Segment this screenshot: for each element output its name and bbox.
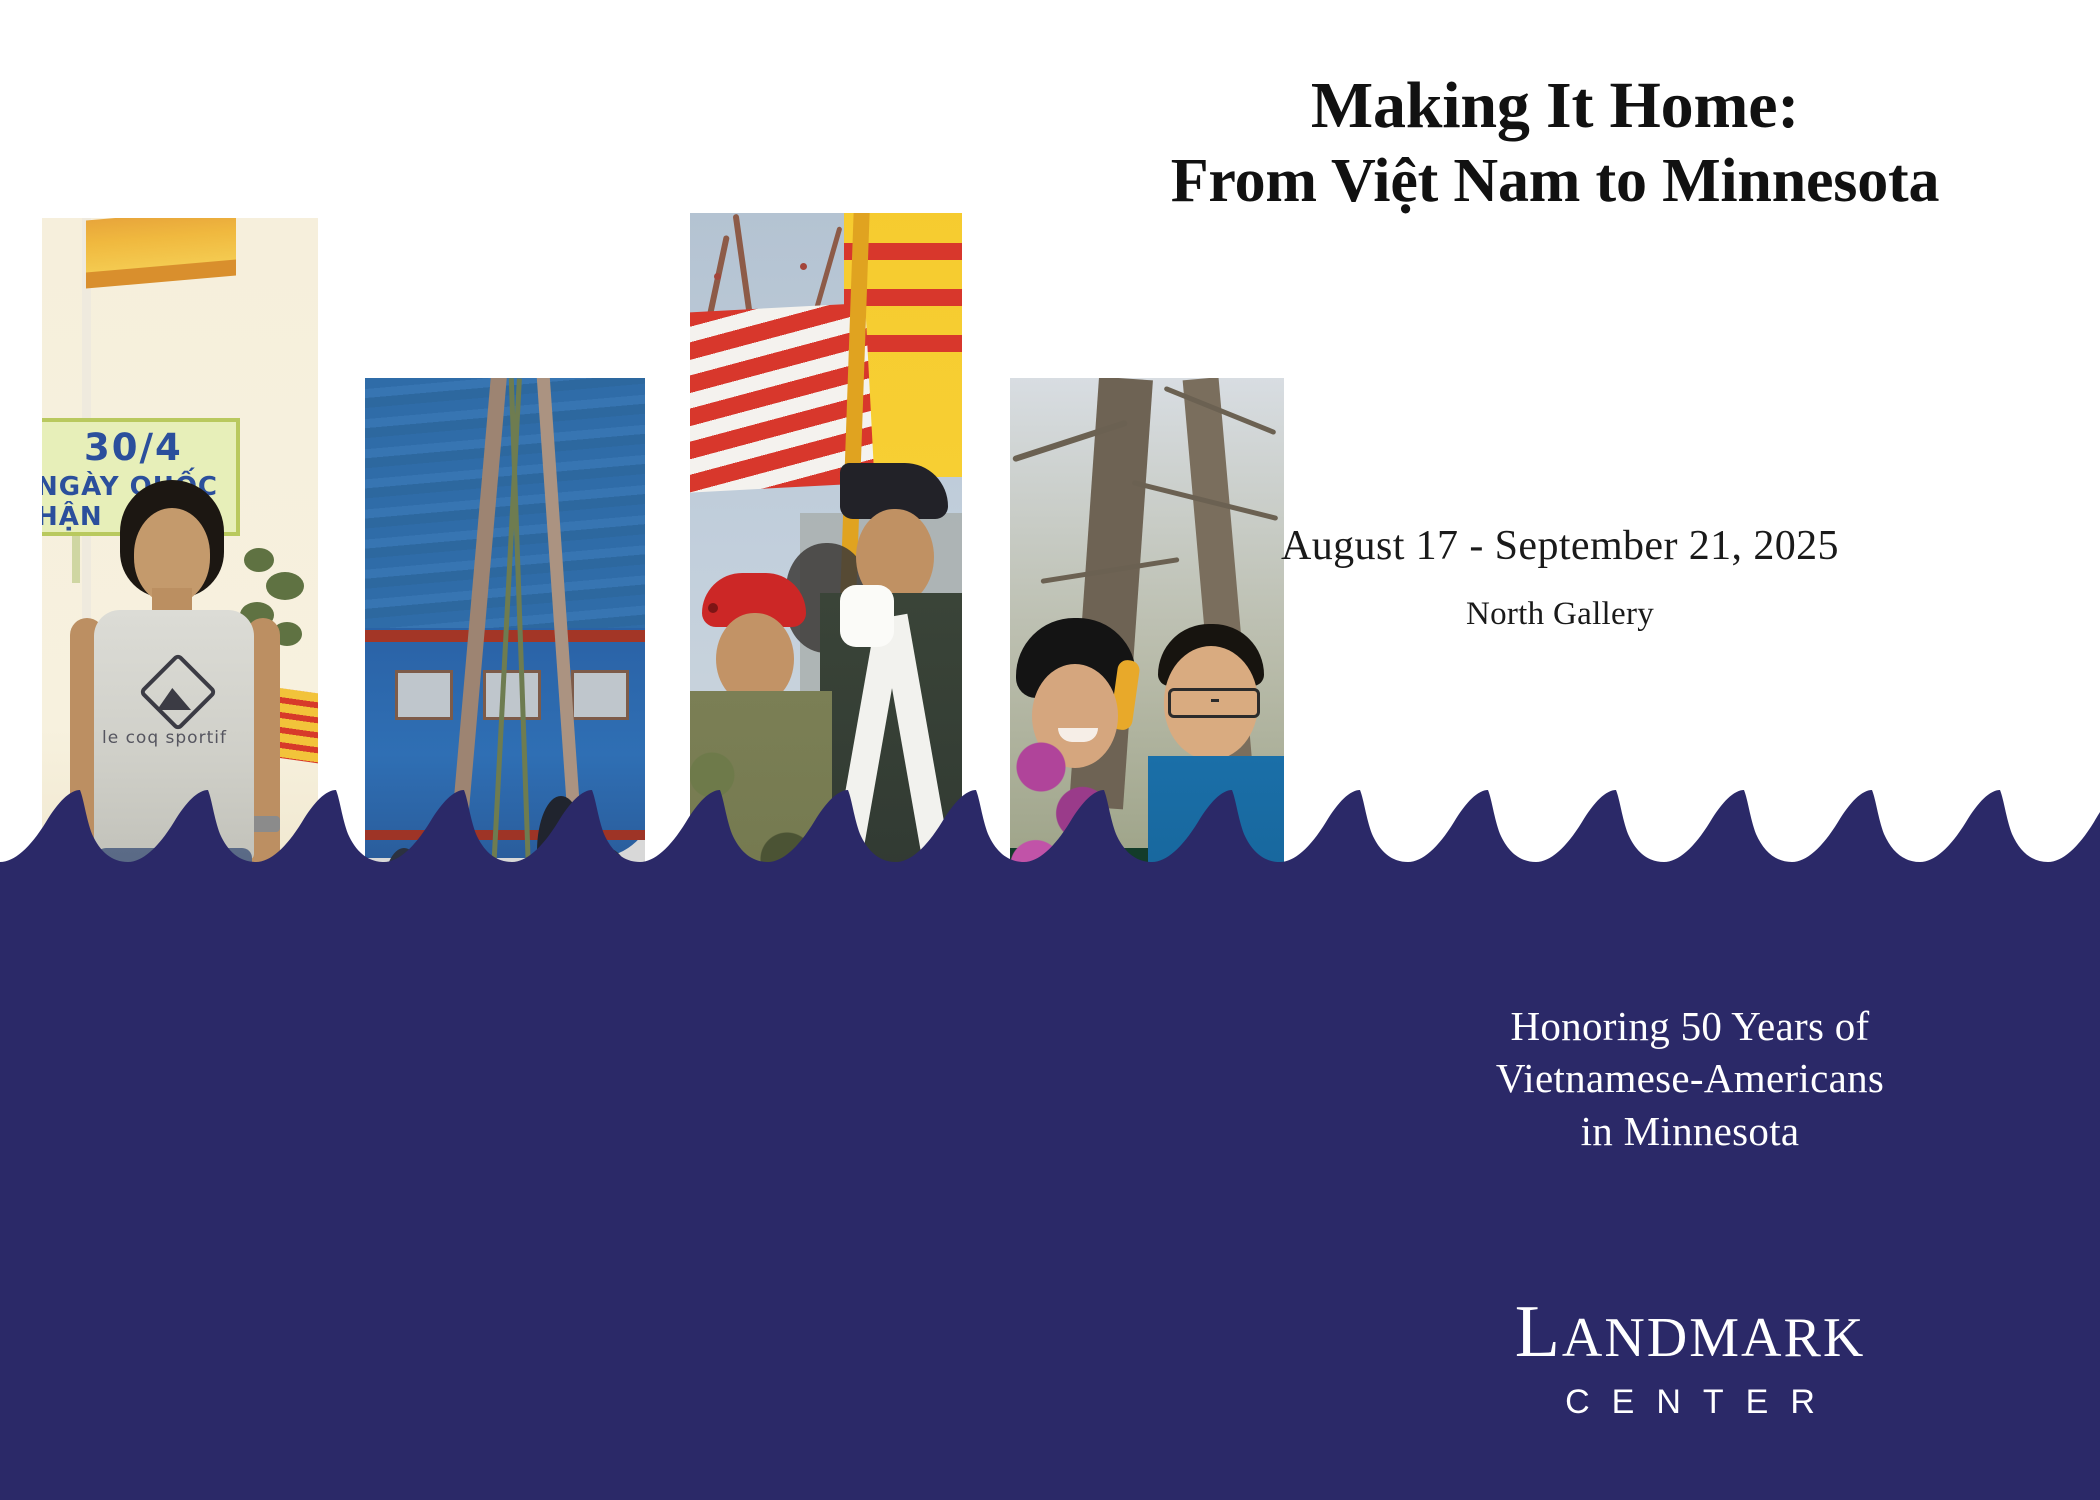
- woman-with-baby: [553, 974, 609, 1094]
- photo-strip-refugee-boat: [365, 378, 645, 1500]
- flower-4: [1180, 1174, 1226, 1220]
- person-standing-left: [383, 848, 425, 940]
- boot-4: [918, 1275, 962, 1321]
- honoring-line-1: Honoring 50 Years of: [1380, 1000, 2000, 1052]
- flower-1: [1072, 1224, 1148, 1300]
- boat-window-2: [483, 670, 541, 720]
- boat-window-3: [571, 670, 629, 720]
- logo-wordmark: LANDMARK: [1390, 1295, 1990, 1369]
- foot-left: [100, 1264, 162, 1290]
- flower-2: [1150, 1216, 1222, 1288]
- boat-window-1: [395, 670, 453, 720]
- photo-content: [690, 213, 962, 1350]
- seated-group-3: [495, 1198, 565, 1318]
- timber-pile: [365, 1438, 645, 1500]
- foot-right: [186, 1264, 248, 1290]
- logo-letter-l: L: [1515, 1291, 1562, 1373]
- white-glove-upper: [840, 585, 894, 647]
- honoring-line-2: Vietnamese-Americans: [1380, 1052, 2000, 1104]
- jeans-seam: [170, 858, 175, 1338]
- blue-trunk-1: [561, 1286, 645, 1354]
- baby: [519, 1046, 561, 1118]
- logo-letters-rest: ANDMARK: [1562, 1307, 1865, 1369]
- sign-line-1: 30/4: [84, 426, 236, 469]
- exhibition-location: North Gallery: [1180, 596, 1940, 633]
- uniform-trousers: [820, 1003, 962, 1283]
- blossom-3: [800, 263, 807, 270]
- blossom-1: [714, 273, 721, 280]
- title-line-2: From Việt Nam to Minnesota: [1055, 148, 2055, 216]
- person-standing-right: [537, 796, 585, 906]
- blue-trunk-2: [385, 1314, 459, 1370]
- photo-strip-veterans-color-guard: [690, 213, 962, 1350]
- honoring-line-3: in Minnesota: [1380, 1105, 2000, 1157]
- honoring-statement: Honoring 50 Years of Vietnamese-American…: [1380, 1000, 2000, 1157]
- elder-man: [579, 848, 635, 968]
- exhibition-poster: 30/4 NGÀY QUỐC HẬN le coq sportif: [0, 0, 2100, 1500]
- seated-group-2: [431, 1114, 487, 1224]
- landmark-center-logo: LANDMARK CENTER: [1390, 1295, 1990, 1422]
- photo-strip-man-with-30-4-sign: 30/4 NGÀY QUỐC HẬN le coq sportif: [42, 218, 318, 1350]
- seated-group-1: [369, 1078, 427, 1188]
- child-1: [409, 990, 449, 1084]
- boot-2: [770, 1269, 840, 1315]
- boot-1: [698, 1253, 764, 1301]
- page-title: Making It Home: From Việt Nam to Minneso…: [1055, 70, 2055, 216]
- photo-content: 30/4 NGÀY QUỐC HẬN le coq sportif: [42, 218, 318, 1350]
- boot-3: [858, 1259, 922, 1309]
- logo-subword-center: CENTER: [1390, 1383, 1990, 1422]
- flower-5: [1056, 1184, 1098, 1226]
- shirt-text: le coq sportif: [102, 728, 232, 748]
- beret-badge: [708, 603, 718, 613]
- title-line-1: Making It Home:: [1055, 70, 2055, 142]
- eyeglasses: [1168, 688, 1260, 718]
- boat-rail-lower: [365, 830, 645, 840]
- camouflage-uniform: [690, 691, 832, 1111]
- photo-content: [365, 378, 645, 1500]
- white-glove-lower: [856, 903, 914, 959]
- flower-3: [1114, 1178, 1170, 1234]
- exhibition-dates: August 17 - September 21, 2025: [1180, 522, 1940, 570]
